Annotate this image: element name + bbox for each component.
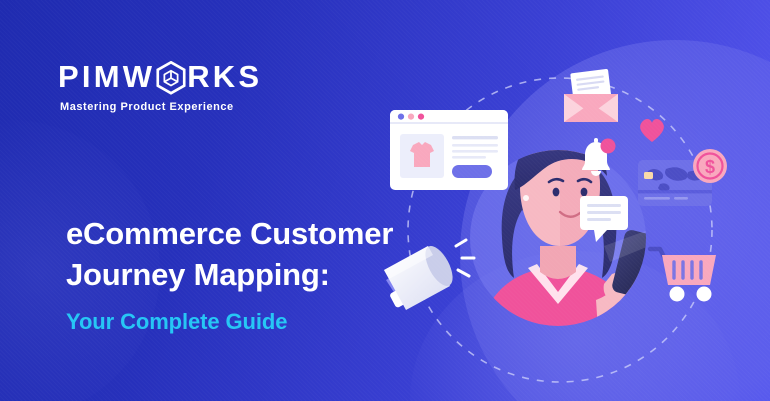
subheadline: Your Complete Guide — [66, 309, 466, 335]
hexagon-cube-icon — [156, 61, 186, 93]
browser-dot-1 — [398, 114, 404, 120]
headline-line-1: eCommerce Customer — [66, 216, 393, 251]
cart-wheel-left — [670, 287, 685, 302]
browser-dot-3 — [418, 114, 424, 120]
headline-block: eCommerce Customer Journey Mapping: Your… — [66, 213, 466, 335]
headline-line-2: Journey Mapping: — [66, 254, 466, 295]
browser-window-icon — [390, 110, 508, 190]
logo-text-part1: PIMW — [58, 61, 155, 92]
email-envelope-icon — [564, 69, 618, 122]
browser-cta-button — [452, 165, 492, 178]
page-title: eCommerce Customer Journey Mapping: — [66, 213, 466, 295]
logo-tagline: Mastering Product Experience — [60, 101, 262, 113]
shopping-cart-icon — [650, 249, 716, 302]
logo-text-part2: RKS — [187, 61, 262, 92]
heart-icon — [640, 119, 664, 142]
cart-wheel-right — [697, 287, 712, 302]
promo-banner: PIMW RKS Mastering Product Experience eC… — [0, 0, 770, 401]
svg-text:$: $ — [705, 157, 715, 177]
brand-logo[interactable]: PIMW RKS Mastering Product Experience — [58, 60, 262, 113]
logo-wordmark: PIMW RKS — [58, 60, 262, 92]
person-neck — [540, 246, 576, 279]
bell-notification-dot — [601, 139, 616, 154]
journey-illustration: $ — [360, 0, 770, 401]
credit-card-icon: $ — [638, 149, 727, 206]
browser-dot-2 — [408, 114, 414, 120]
